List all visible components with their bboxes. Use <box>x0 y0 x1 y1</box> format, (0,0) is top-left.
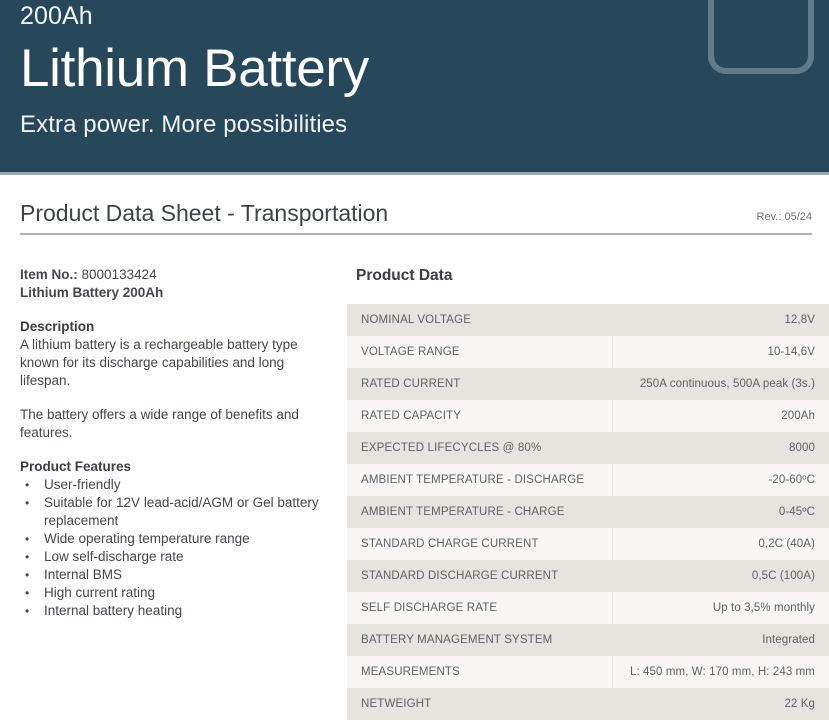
spec-value: Integrated <box>612 624 829 656</box>
item-number-value: 8000133424 <box>82 267 157 282</box>
hero-title: Lithium Battery <box>20 38 369 100</box>
list-item: Internal battery heating <box>20 602 320 620</box>
spec-label: AMBIENT TEMPERATURE - DISCHARGE <box>347 464 612 496</box>
product-data-table: NOMINAL VOLTAGE12,8VVOLTAGE RANGE10-14,6… <box>347 304 829 720</box>
table-row: AMBIENT TEMPERATURE - CHARGE0-45ºC <box>347 496 829 528</box>
spec-value: 0,2C (40A) <box>612 528 829 560</box>
description-paragraph-1: A lithium battery is a rechargeable batt… <box>20 336 320 390</box>
description-heading: Description <box>20 318 330 336</box>
product-data-title: Product Data <box>347 266 829 286</box>
table-row: VOLTAGE RANGE10-14,6V <box>347 336 829 368</box>
spacer <box>20 442 330 458</box>
list-item: High current rating <box>20 584 320 602</box>
spec-value: 250A continuous, 500A peak (3s.) <box>612 368 829 400</box>
table-row: RATED CAPACITY200Ah <box>347 400 829 432</box>
spec-value: 10-14,6V <box>612 336 829 368</box>
table-row: NETWEIGHT22 Kg <box>347 688 829 720</box>
revision-label: Rev.: 05/24 <box>757 210 812 224</box>
product-name-line: Lithium Battery 200Ah <box>20 284 330 302</box>
spec-label: SELF DISCHARGE RATE <box>347 592 612 624</box>
spec-label: STANDARD CHARGE CURRENT <box>347 528 612 560</box>
table-row: NOMINAL VOLTAGE12,8V <box>347 304 829 336</box>
spec-value: 0,5C (100A) <box>612 560 829 592</box>
spec-value: 200Ah <box>612 400 829 432</box>
hero-subtitle: Extra power. More possibilities <box>20 110 347 140</box>
list-item: Internal BMS <box>20 566 320 584</box>
spec-label: NETWEIGHT <box>347 688 612 720</box>
table-row: MEASUREMENTSL: 450 mm, W: 170 mm, H: 243… <box>347 656 829 688</box>
hero-eyebrow: 200Ah <box>20 2 93 30</box>
table-row: STANDARD DISCHARGE CURRENT0,5C (100A) <box>347 560 829 592</box>
spec-label: EXPECTED LIFECYCLES @ 80% <box>347 432 612 464</box>
spec-value: Up to 3,5% monthly <box>612 592 829 624</box>
table-row: BATTERY MANAGEMENT SYSTEMIntegrated <box>347 624 829 656</box>
section-header: Product Data Sheet - Transportation Rev.… <box>20 198 812 240</box>
spec-value: -20-60ºC <box>612 464 829 496</box>
list-item: Low self-discharge rate <box>20 548 320 566</box>
spec-label: BATTERY MANAGEMENT SYSTEM <box>347 624 612 656</box>
battery-outline-icon <box>708 0 814 74</box>
list-item: Wide operating temperature range <box>20 530 320 548</box>
table-row: SELF DISCHARGE RATEUp to 3,5% monthly <box>347 592 829 624</box>
spec-label: STANDARD DISCHARGE CURRENT <box>347 560 612 592</box>
spacer <box>20 302 330 318</box>
description-paragraph-2: The battery offers a wide range of benef… <box>20 406 320 442</box>
hero-banner: 200Ah Lithium Battery Extra power. More … <box>0 0 829 172</box>
spec-value: 0-45ºC <box>612 496 829 528</box>
spec-label: AMBIENT TEMPERATURE - CHARGE <box>347 496 612 528</box>
table-row: AMBIENT TEMPERATURE - DISCHARGE-20-60ºC <box>347 464 829 496</box>
item-number-line: Item No.: 8000133424 <box>20 266 330 284</box>
table-row: RATED CURRENT250A continuous, 500A peak … <box>347 368 829 400</box>
table-row: STANDARD CHARGE CURRENT0,2C (40A) <box>347 528 829 560</box>
hero-bottom-rule <box>0 172 829 175</box>
spec-value: 22 Kg <box>612 688 829 720</box>
features-heading: Product Features <box>20 458 330 476</box>
spec-label: VOLTAGE RANGE <box>347 336 612 368</box>
left-column: Item No.: 8000133424 Lithium Battery 200… <box>20 266 330 620</box>
list-item: Suitable for 12V lead-acid/AGM or Gel ba… <box>20 494 320 530</box>
spec-label: MEASUREMENTS <box>347 656 612 688</box>
list-item: User-friendly <box>20 476 320 494</box>
right-column: Product Data NOMINAL VOLTAGE12,8VVOLTAGE… <box>347 266 829 720</box>
spec-label: NOMINAL VOLTAGE <box>347 304 612 336</box>
spec-value: L: 450 mm, W: 170 mm, H: 243 mm <box>612 656 829 688</box>
spec-label: RATED CURRENT <box>347 368 612 400</box>
product-features-list: User-friendlySuitable for 12V lead-acid/… <box>20 476 330 620</box>
item-number-label: Item No.: <box>20 267 78 282</box>
section-divider <box>20 233 812 235</box>
spec-label: RATED CAPACITY <box>347 400 612 432</box>
product-name: Lithium Battery 200Ah <box>20 285 163 300</box>
spacer <box>20 390 330 406</box>
spec-value: 12,8V <box>612 304 829 336</box>
spec-value: 8000 <box>612 432 829 464</box>
hero-text-block: 200Ah Lithium Battery Extra power. More … <box>20 0 660 172</box>
table-row: EXPECTED LIFECYCLES @ 80%8000 <box>347 432 829 464</box>
page-title: Product Data Sheet - Transportation <box>20 198 388 228</box>
